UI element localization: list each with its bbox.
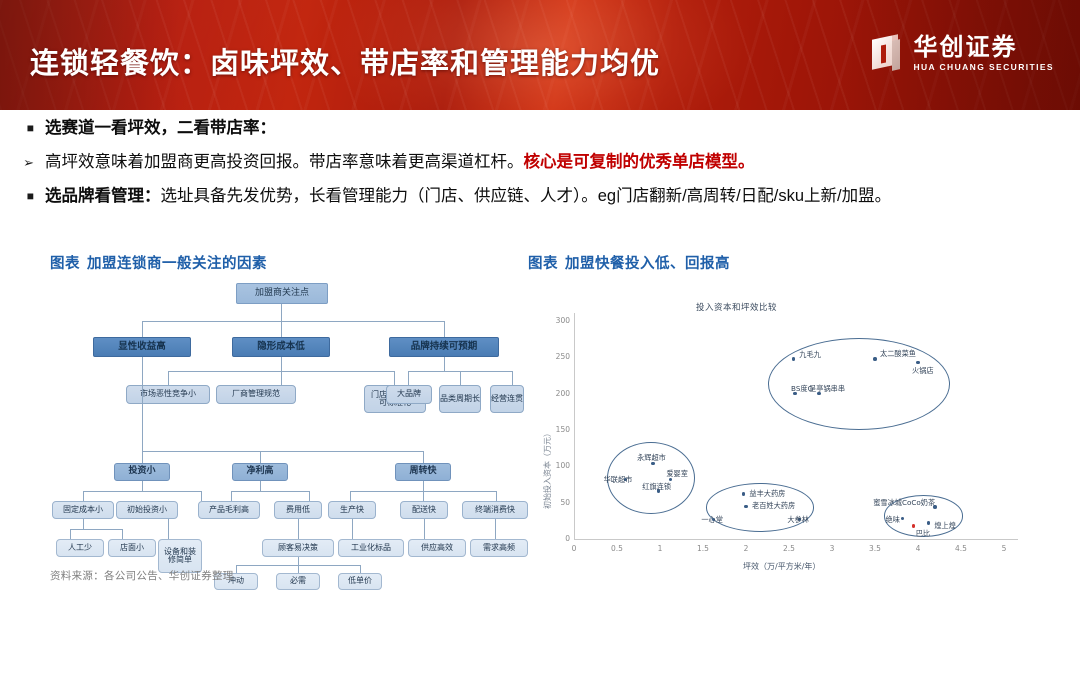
scatter-y-tick: 250 xyxy=(550,352,570,361)
logo-text-cn: 华创证券 xyxy=(913,36,1054,60)
scatter-point-label-15: 巴比 xyxy=(916,529,930,539)
bullet-marker-square-2: ■ xyxy=(0,186,45,207)
scatter-x-tick: 4 xyxy=(909,544,927,553)
scatter-point-label-16: 煌上煌 xyxy=(934,521,956,531)
flow-node-l5-3: 顾客易决策 xyxy=(262,539,334,557)
scatter-y-tick: 150 xyxy=(550,425,570,434)
scatter-point-label-1: 太二酸菜鱼 xyxy=(880,349,916,359)
scatter-point-label-12: 大参林 xyxy=(787,515,809,525)
bullet-text-2: 高坪效意味着加盟商更高投资回报。带店率意味着更高渠道杠杆。核心是可复制的优秀单店… xyxy=(45,152,755,173)
flow-node-l1-0: 显性收益高 xyxy=(93,337,191,357)
bullet-marker-arrow: ➢ xyxy=(0,152,45,173)
scatter-y-axis xyxy=(574,313,575,539)
left-chart-panel: 图表加盟连锁商一般关注的因素 加盟商关注点 显性收益高 隐形成本低 品牌持续可预… xyxy=(50,252,520,583)
scatter-x-tick: 4.5 xyxy=(952,544,970,553)
page-title: 连锁轻餐饮：卤味坪效、带店率和管理能力均优 xyxy=(30,40,660,82)
scatter-point-label-9: 益丰大药房 xyxy=(749,489,785,499)
scatter-point-0 xyxy=(792,357,796,361)
flow-node-root: 加盟商关注点 xyxy=(236,283,328,304)
bullet-item-3: ■ 选品牌看管理：选址具备先发优势，长看管理能力（门店、供应链、人才）。eg门店… xyxy=(0,186,1080,207)
scatter-point-label-10: 老百姓大药房 xyxy=(752,501,795,511)
left-panel-title: 图表加盟连锁商一般关注的因素 xyxy=(50,252,520,273)
scatter-point-label-8: 红旗连锁 xyxy=(642,482,671,492)
scatter-x-tick: 2.5 xyxy=(780,544,798,553)
scatter-point-10 xyxy=(744,505,748,509)
bullet-text-2-highlight: 核心是可复制的优秀单店模型。 xyxy=(524,153,755,171)
scatter-x-tick: 1 xyxy=(651,544,669,553)
flow-node-l1-2: 品牌持续可预期 xyxy=(389,337,499,357)
right-panel-label: 图表 xyxy=(528,256,558,272)
bullet-text-2-normal: 高坪效意味着加盟商更高投资回报。带店率意味着更高渠道杠杆。 xyxy=(45,153,524,171)
flow-node-l3-0: 投资小 xyxy=(114,463,170,481)
bullet-text-3-body: 选址具备先发优势，长看管理能力（门店、供应链、人才）。eg门店翻新/高周转/日配… xyxy=(161,187,892,205)
header-banner: 连锁轻餐饮：卤味坪效、带店率和管理能力均优 华创证券 HUA CHUANG SE… xyxy=(0,0,1080,110)
scatter-point-label-14: 绝味 xyxy=(886,515,900,525)
bullet-text-3: 选品牌看管理：选址具备先发优势，长看管理能力（门店、供应链、人才）。eg门店翻新… xyxy=(45,186,891,207)
scatter-y-tick: 100 xyxy=(550,461,570,470)
bullet-item-1: ■ 选赛道一看坪效，二看带店率： xyxy=(0,118,1080,139)
flow-node-l2-1: 厂商管理规范 xyxy=(216,385,296,404)
scatter-point-label-4: 呈亭锅串串 xyxy=(809,384,845,394)
scatter-point-label-0: 九毛九 xyxy=(799,350,821,360)
scatter-x-tick: 0 xyxy=(565,544,583,553)
flow-node-l2-0: 市场恶性竞争小 xyxy=(126,385,210,404)
flow-node-l3-1: 净利高 xyxy=(232,463,288,481)
left-panel-title-text: 加盟连锁商一般关注的因素 xyxy=(87,256,267,272)
company-logo: 华创证券 HUA CHUANG SECURITIES xyxy=(872,36,1054,72)
source-note: 资料来源：各公司公告、华创证券整理 xyxy=(50,568,234,583)
scatter-point-2 xyxy=(916,361,920,365)
flow-node-l4-0: 固定成本小 xyxy=(52,501,114,519)
scatter-point-9 xyxy=(742,492,746,496)
right-panel-title-text: 加盟快餐投入低、回报高 xyxy=(565,256,730,272)
flow-node-l5-5: 供应高效 xyxy=(408,539,466,557)
scatter-point-label-11: 一心堂 xyxy=(701,515,723,525)
flow-node-l4-4: 生产快 xyxy=(328,501,376,519)
scatter-y-tick: 200 xyxy=(550,389,570,398)
scatter-point-label-7: 爱婴室 xyxy=(666,469,688,479)
scatter-point-1 xyxy=(873,357,877,361)
scatter-x-tick: 1.5 xyxy=(694,544,712,553)
scatter-chart-title: 投入资本和坪效比较 xyxy=(696,301,777,313)
bullet-item-2: ➢ 高坪效意味着加盟商更高投资回报。带店率意味着更高渠道杠杆。核心是可复制的优秀… xyxy=(0,152,1080,173)
bullet-list: ■ 选赛道一看坪效，二看带店率： ➢ 高坪效意味着加盟商更高投资回报。带店率意味… xyxy=(0,118,1080,220)
flow-node-l2-5: 经营连贯 xyxy=(490,385,524,413)
franchise-factors-flowchart: 加盟商关注点 显性收益高 隐形成本低 品牌持续可预期 市场恶性竞争小 厂商管理规… xyxy=(50,283,512,583)
scatter-y-tick: 300 xyxy=(550,316,570,325)
cube-logo-icon xyxy=(872,37,904,71)
scatter-x-axis-label: 坪效（万/平方米/年） xyxy=(743,561,820,572)
scatter-x-tick: 5 xyxy=(995,544,1013,553)
bullet-text-1: 选赛道一看坪效，二看带店率： xyxy=(45,118,276,139)
capital-vs-sales-scatter-chart: 投入资本和坪效比较 初始投入资本（万元） 坪效（万/平方米/年） 0501001… xyxy=(528,281,1018,581)
scatter-point-label-13: 蜜雪冰城CoCo奶茶 xyxy=(873,498,935,508)
flow-node-l6-2: 低单价 xyxy=(338,573,382,590)
flow-node-l1-1: 隐形成本低 xyxy=(232,337,330,357)
flow-node-l5-1: 店面小 xyxy=(108,539,156,557)
bullet-text-3-head: 选品牌看管理： xyxy=(45,187,161,205)
flow-node-l6-1: 必需 xyxy=(276,573,320,590)
scatter-x-tick: 3.5 xyxy=(866,544,884,553)
scatter-x-tick: 3 xyxy=(823,544,841,553)
scatter-point-label-2: 火锅店 xyxy=(912,366,934,376)
scatter-point-label-5: 永辉超市 xyxy=(637,453,666,463)
scatter-y-tick: 50 xyxy=(550,498,570,507)
flow-node-l4-5: 配送快 xyxy=(400,501,448,519)
scatter-point-label-6: 华联超市 xyxy=(604,475,633,485)
left-panel-label: 图表 xyxy=(50,256,80,272)
flow-node-l5-6: 需求高频 xyxy=(470,539,528,557)
scatter-point-16 xyxy=(927,521,931,525)
scatter-x-tick: 2 xyxy=(737,544,755,553)
right-chart-panel: 图表加盟快餐投入低、回报高 投入资本和坪效比较 初始投入资本（万元） 坪效（万/… xyxy=(528,252,1028,581)
flow-node-l2-4: 品类周期长 xyxy=(439,385,481,413)
right-panel-title: 图表加盟快餐投入低、回报高 xyxy=(528,252,1028,273)
logo-text-en: HUA CHUANG SECURITIES xyxy=(913,63,1054,72)
flow-node-l4-3: 费用低 xyxy=(274,501,322,519)
scatter-y-tick: 0 xyxy=(550,534,570,543)
flow-node-l4-6: 终端消费快 xyxy=(462,501,528,519)
flow-node-l3-2: 周转快 xyxy=(395,463,451,481)
bullet-marker-square: ■ xyxy=(0,118,45,139)
scatter-x-tick: 0.5 xyxy=(608,544,626,553)
flow-node-l2-3: 大品牌 xyxy=(386,385,432,404)
flow-node-l5-4: 工业化标品 xyxy=(338,539,404,557)
flow-node-l4-2: 产品毛利高 xyxy=(198,501,260,519)
flow-node-l5-0: 人工少 xyxy=(56,539,104,557)
flow-node-l4-1: 初始投资小 xyxy=(116,501,178,519)
scatter-x-axis xyxy=(574,539,1018,540)
